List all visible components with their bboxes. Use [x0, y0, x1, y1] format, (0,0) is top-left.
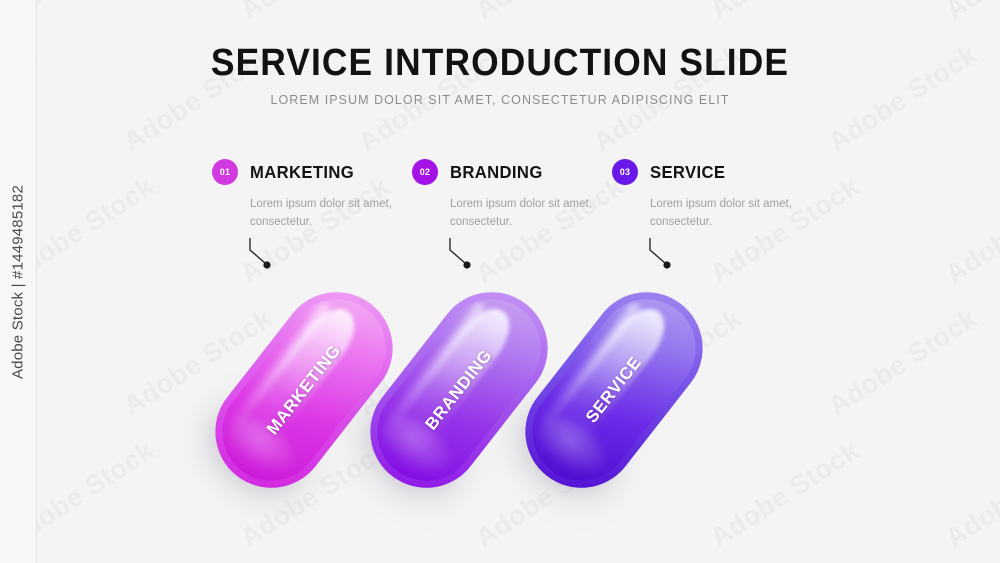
page-title: SERVICE INTRODUCTION SLIDE: [35, 44, 965, 84]
steps-row: 01 MARKETING Lorem ipsum dolor sit amet,…: [0, 159, 1000, 279]
step-header-2: 02 BRANDING: [412, 159, 642, 185]
step-header-3: 03 SERVICE: [612, 159, 842, 185]
step-description-3: Lorem ipsum dolor sit amet, consectetur.: [650, 196, 810, 232]
stock-rail: Adobe Stock | #1449485182: [0, 0, 37, 563]
step-title-1: MARKETING: [250, 162, 354, 183]
connector-line-3: [648, 236, 678, 272]
step-header-1: 01 MARKETING: [212, 159, 442, 185]
step-item-1[interactable]: 01 MARKETING Lorem ipsum dolor sit amet,…: [212, 159, 442, 232]
step-title-3: SERVICE: [650, 162, 725, 183]
step-title-2: BRANDING: [450, 162, 543, 183]
step-number-1: 01: [220, 167, 231, 177]
step-badge-3: 03: [612, 159, 638, 185]
step-number-2: 02: [420, 167, 431, 177]
stock-rail-label: Adobe Stock | #1449485182: [10, 184, 27, 378]
step-badge-2: 02: [412, 159, 438, 185]
step-description-2: Lorem ipsum dolor sit amet, consectetur.: [450, 196, 610, 232]
connector-line-1: [248, 236, 278, 272]
slide-header: SERVICE INTRODUCTION SLIDE LOREM IPSUM D…: [0, 44, 1000, 107]
step-item-3[interactable]: 03 SERVICE Lorem ipsum dolor sit amet, c…: [612, 159, 842, 232]
step-description-1: Lorem ipsum dolor sit amet, consectetur.: [250, 196, 410, 232]
step-badge-1: 01: [212, 159, 238, 185]
connector-line-2: [448, 236, 478, 272]
page-subtitle: LOREM IPSUM DOLOR SIT AMET, CONSECTETUR …: [0, 93, 1000, 107]
pill-service[interactable]: SERVICE: [503, 270, 725, 511]
step-item-2[interactable]: 02 BRANDING Lorem ipsum dolor sit amet, …: [412, 159, 642, 232]
step-number-3: 03: [620, 167, 631, 177]
pill-marketing[interactable]: MARKETING: [193, 270, 415, 511]
pill-branding[interactable]: BRANDING: [348, 270, 570, 511]
